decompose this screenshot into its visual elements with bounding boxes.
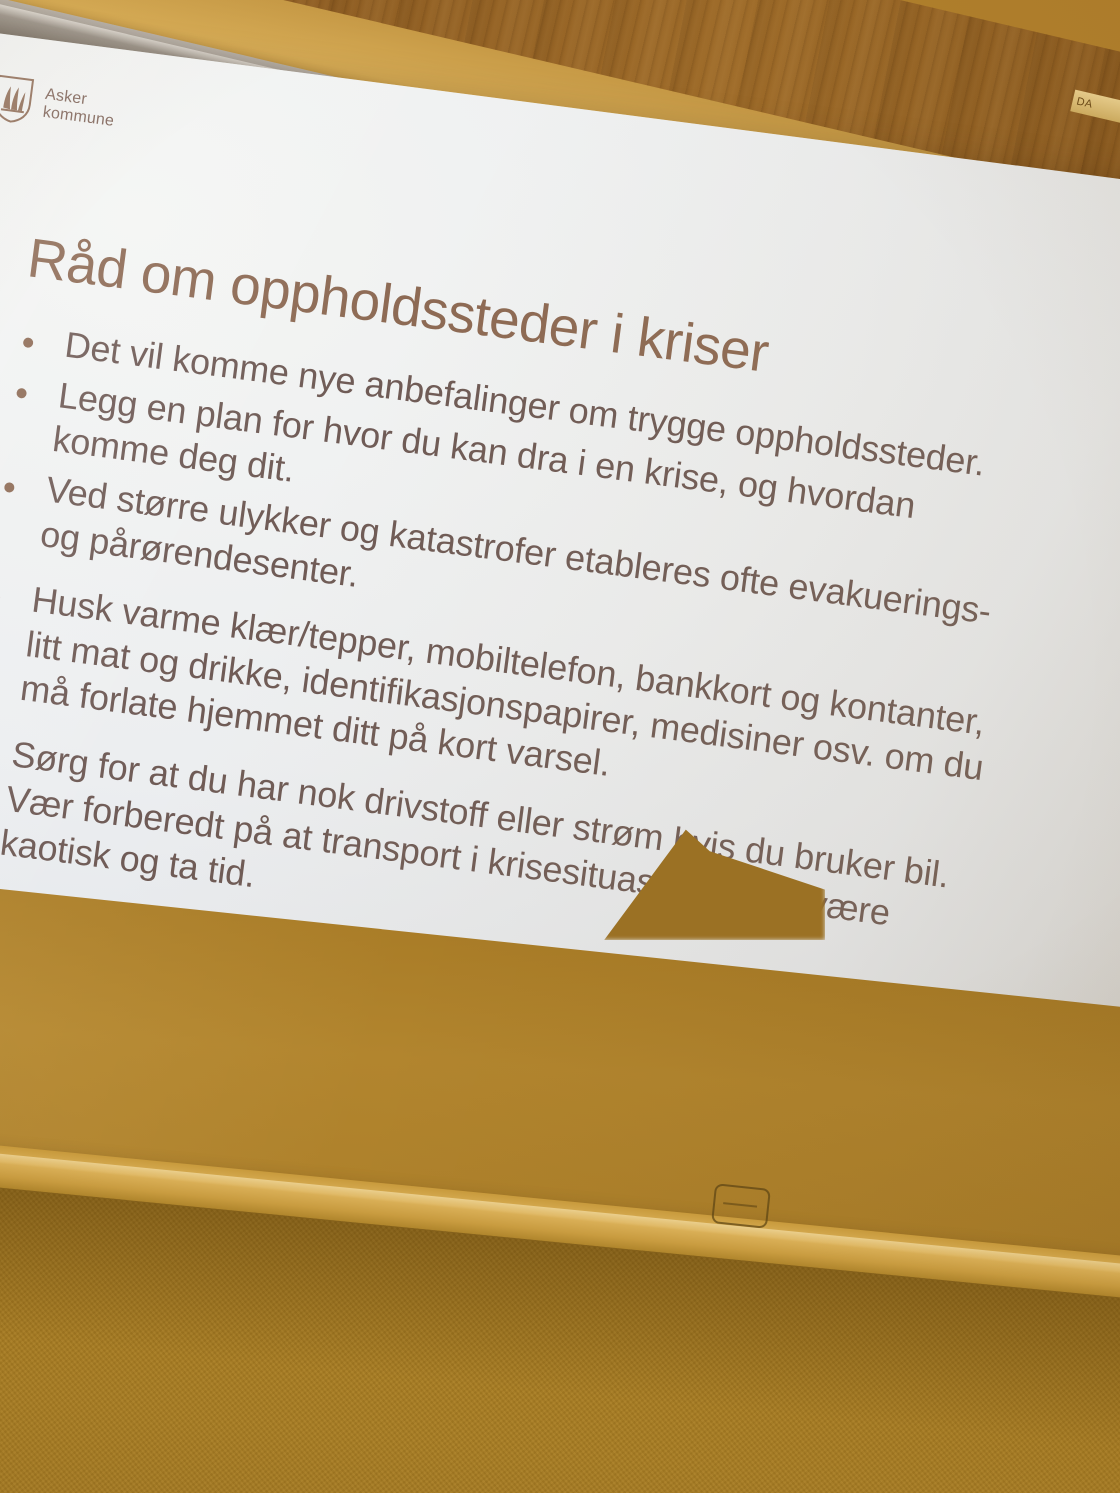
bullet-dot-icon xyxy=(0,592,1,603)
bullet-list: Det vil komme nye anbefalinger om trygge… xyxy=(0,316,1032,996)
asker-kommune-shield-icon xyxy=(0,74,35,126)
bullet-dot-icon xyxy=(16,387,27,398)
bullet-dot-icon xyxy=(4,482,15,493)
logo-label: Asker kommune xyxy=(42,86,118,131)
photo-scene: DA Asker kommune Råd om oppholdssteder i… xyxy=(0,0,1120,1493)
bullet-dot-icon xyxy=(23,337,34,348)
asker-kommune-logo: Asker kommune xyxy=(0,74,118,137)
screen-pull-ring[interactable] xyxy=(711,1183,771,1229)
